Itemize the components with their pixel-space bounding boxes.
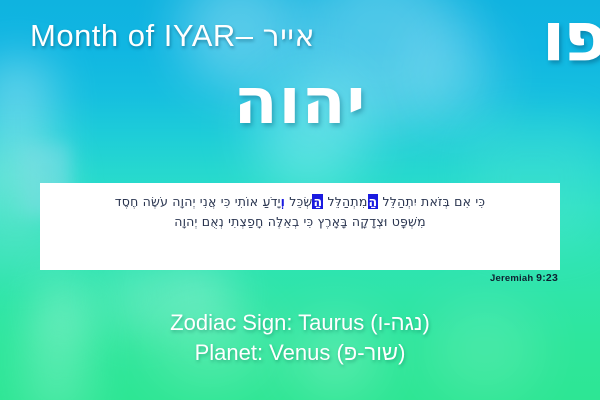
verse-highlight-1: הַ xyxy=(368,194,379,209)
scripture-card: כִּי אִם בְּזֹאת יִתְהַלֵּל הַמִתְהַלֵּל… xyxy=(40,183,560,270)
verse-seg-1d: יָדֹעַ אוֹתִי כִּי אֲנִי יְהוָה עֹשֶׂה ח… xyxy=(115,194,281,209)
corner-hebrew-letters: פו xyxy=(542,4,600,72)
citation-verse: 9:23 xyxy=(536,272,558,284)
tetragrammaton: יהוה xyxy=(0,70,600,134)
verse-seg-1b: מִתְהַלֵּל xyxy=(323,194,367,209)
poster-canvas: Month of IYAR– אייר פו יהוה כִּי אִם בְּ… xyxy=(0,0,600,400)
verse-line-1: כִּי אִם בְּזֹאת יִתְהַלֵּל הַמִתְהַלֵּל… xyxy=(52,192,548,212)
page-title-hebrew: אייר xyxy=(263,19,315,54)
zodiac-sign-line: Zodiac Sign: Taurus (נגה-ו) xyxy=(0,308,600,338)
verse-line-2: מִשְׁפָּט וּצְדָקָה בָּאָרֶץ כִּי בְאֵלּ… xyxy=(52,212,548,232)
citation-book: Jeremiah xyxy=(490,273,536,284)
verse-seg-1a: כִּי אִם בְּזֹאת יִתְהַלֵּל xyxy=(378,194,485,209)
page-title: Month of IYAR– אייר xyxy=(30,18,315,54)
info-block: Zodiac Sign: Taurus (נגה-ו) Planet: Venu… xyxy=(0,308,600,368)
page-title-english: Month of IYAR– xyxy=(30,18,263,53)
planet-line: Planet: Venus (שור-פּ) xyxy=(0,338,600,368)
verse-seg-1c: שְׂכֵּל xyxy=(285,194,312,209)
scripture-citation: Jeremiah 9:23 xyxy=(490,272,558,284)
header: Month of IYAR– אייר פו xyxy=(0,18,600,64)
verse-highlight-2: הַ xyxy=(312,194,323,209)
